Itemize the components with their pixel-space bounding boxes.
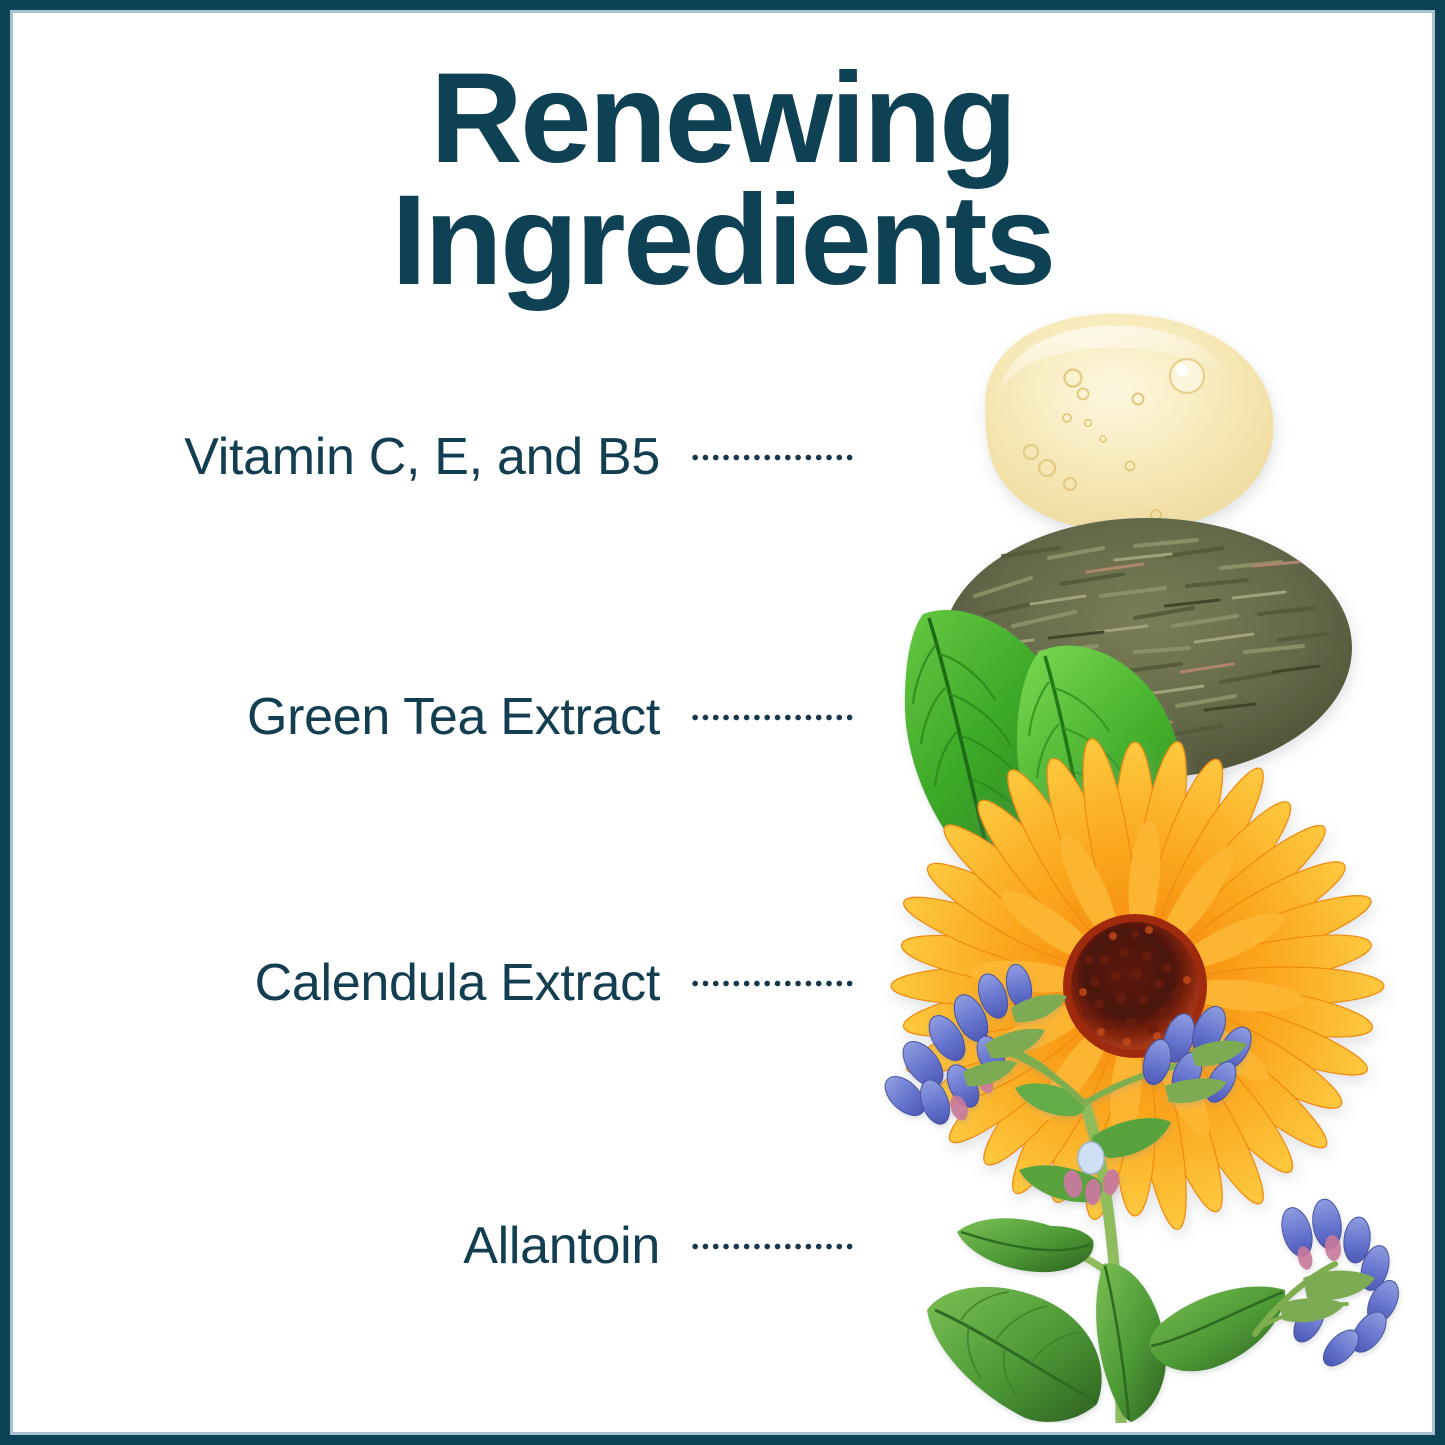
ingredient-label: Allantoin xyxy=(0,1215,660,1277)
ingredient-label: Green Tea Extract xyxy=(0,686,660,748)
dotted-leader-icon xyxy=(690,454,855,461)
list-item: Allantoin xyxy=(0,1211,880,1281)
ingredients-infographic: Renewing Ingredients Vitamin C, E, and B… xyxy=(0,0,1445,1445)
ingredient-collage-image xyxy=(835,296,1435,1441)
list-item: Green Tea Extract xyxy=(0,682,880,752)
dotted-leader-icon xyxy=(690,1243,855,1250)
comfrey-flower-cluster-right xyxy=(1255,1197,1405,1372)
ingredient-label: Calendula Extract xyxy=(0,952,660,1014)
serum-oil-drop-icon xyxy=(985,314,1274,532)
dotted-leader-icon xyxy=(690,980,855,987)
list-item: Vitamin C, E, and B5 xyxy=(0,422,880,492)
dotted-leader-icon xyxy=(690,714,855,721)
ingredient-label: Vitamin C, E, and B5 xyxy=(0,426,660,488)
list-item: Calendula Extract xyxy=(0,948,880,1018)
ingredient-list: Vitamin C, E, and B5 Green Tea Extract C… xyxy=(0,0,880,1445)
